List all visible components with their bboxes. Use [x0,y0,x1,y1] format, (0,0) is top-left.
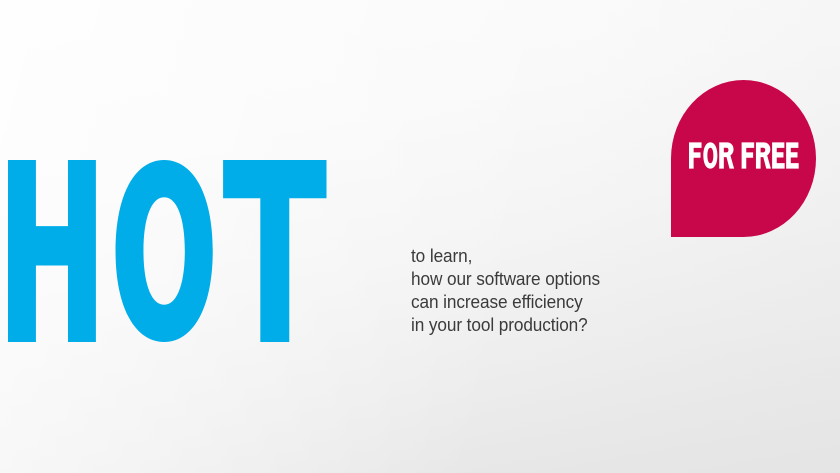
glyph-o [116,160,213,342]
promo-banner: to learn, how our software options can i… [0,0,840,473]
glyph-h [8,160,96,342]
glyph-r [719,142,734,168]
headline-hot-glyphs [8,160,418,342]
for-free-badge[interactable] [671,80,816,237]
lede-line-3: can increase efficiency [411,290,653,313]
glyph-f [741,142,754,168]
glyph-t [223,160,326,342]
badge-label-glyphs [689,142,799,169]
lede-line-2: how our software options [411,267,653,290]
headline-hot [8,160,418,342]
lede-line-1: to learn, [411,244,653,267]
glyph-e [772,142,785,168]
glyph-e [786,142,799,168]
glyph-f [689,142,702,168]
lede-paragraph: to learn, how our software options can i… [411,244,653,336]
glyph-r [755,142,770,168]
lede-line-4: in your tool production? [411,313,653,336]
glyph-o [703,142,717,168]
badge-label-wrap [671,80,816,237]
